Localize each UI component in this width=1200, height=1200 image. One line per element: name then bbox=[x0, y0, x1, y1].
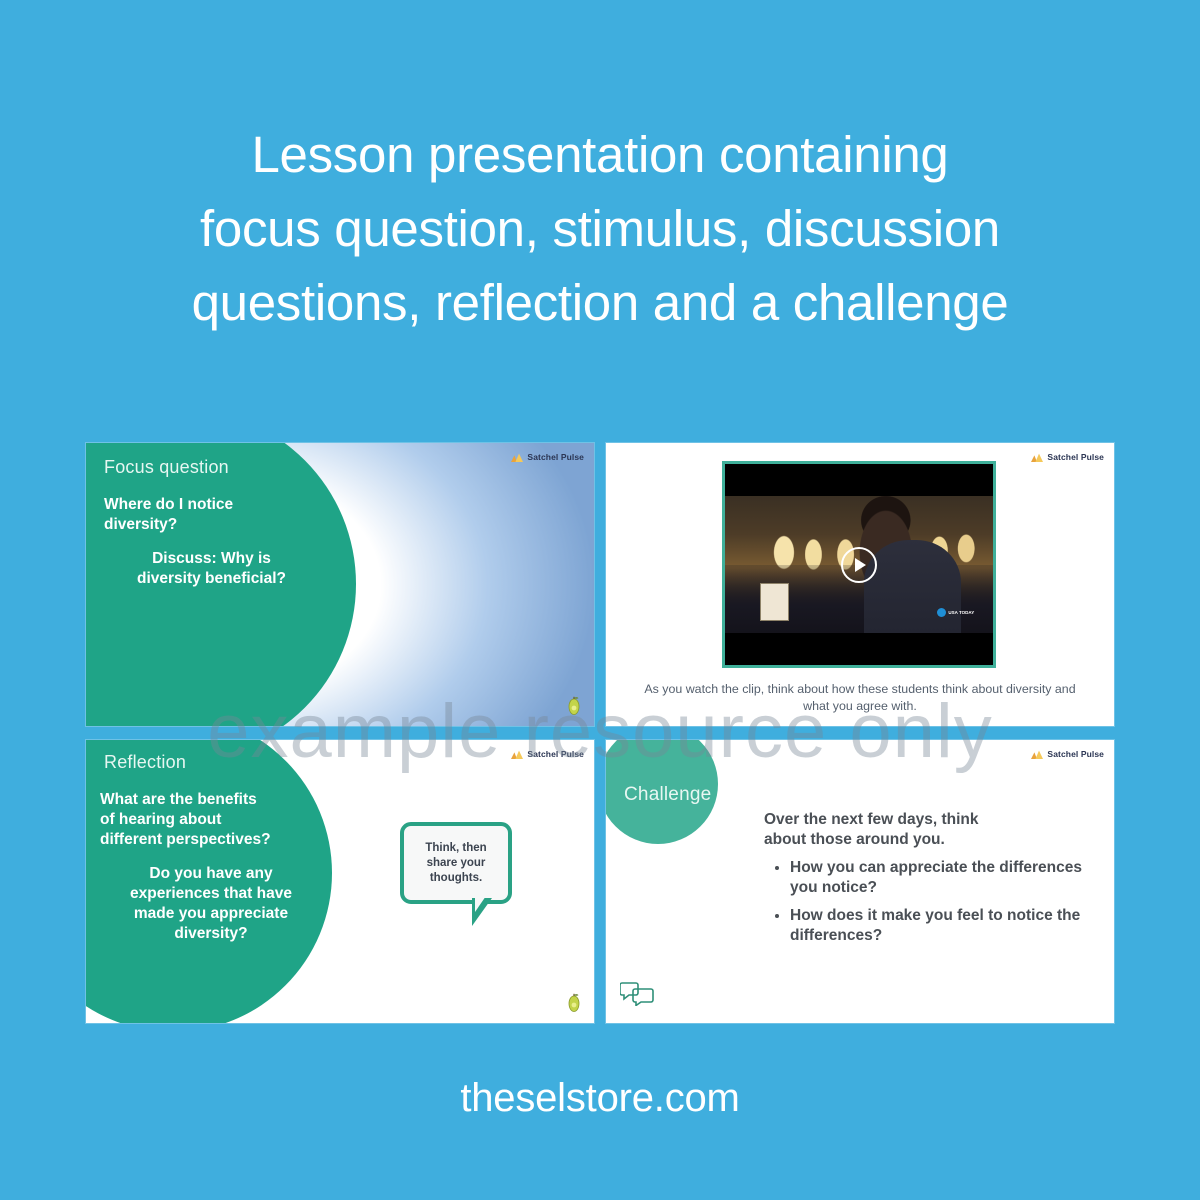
pear-mascot-icon bbox=[566, 993, 582, 1013]
usa-today-text: USA TODAY bbox=[948, 610, 974, 615]
video-caption: As you watch the clip, think about how t… bbox=[638, 681, 1082, 715]
satchel-pulse-logo-text: Satchel Pulse bbox=[527, 452, 584, 462]
page-title: Lesson presentation containing focus que… bbox=[60, 118, 1140, 340]
slide-body-secondary: Discuss: Why is diversity beneficial? bbox=[104, 549, 319, 589]
satchel-pulse-logo-text: Satchel Pulse bbox=[1047, 452, 1104, 462]
slide-reflection[interactable]: Reflection What are the benefits of hear… bbox=[86, 740, 594, 1023]
slide-label-focus-question: Focus question bbox=[104, 457, 229, 478]
slide-challenge[interactable]: Challenge Over the next few days, think … bbox=[606, 740, 1114, 1023]
satchel-pulse-logo-text: Satchel Pulse bbox=[527, 749, 584, 759]
challenge-content: Over the next few days, think about thos… bbox=[764, 810, 1094, 954]
satchel-pulse-logo-text: Satchel Pulse bbox=[1047, 749, 1104, 759]
satchel-pulse-logo: Satchel Pulse bbox=[1031, 452, 1104, 462]
speech-bubble-text: Think, then share your thoughts. bbox=[425, 841, 486, 886]
video-player[interactable]: USA TODAY bbox=[722, 461, 996, 668]
challenge-lead-text: Over the next few days, think about thos… bbox=[764, 810, 1094, 850]
slide-body-secondary: Do you have any experiences that have ma… bbox=[100, 864, 322, 944]
slide-body-primary: What are the benefits of hearing about d… bbox=[100, 790, 315, 850]
play-button[interactable] bbox=[841, 547, 877, 583]
usa-today-dot-icon bbox=[937, 608, 946, 617]
pear-mascot-icon bbox=[566, 696, 582, 716]
video-subject-silhouette bbox=[864, 540, 960, 632]
speech-bubble-tail bbox=[472, 898, 492, 926]
challenge-bullet-list: How you can appreciate the differences y… bbox=[764, 858, 1094, 946]
slide-stimulus-video[interactable]: Satchel Pulse USA TODAY As you watch the… bbox=[606, 443, 1114, 726]
satchel-pulse-logo: Satchel Pulse bbox=[1031, 749, 1104, 759]
usa-today-watermark: USA TODAY bbox=[937, 608, 974, 617]
video-background-picture bbox=[760, 583, 789, 621]
mountain-icon bbox=[511, 750, 523, 759]
chat-bubbles-icon bbox=[620, 980, 654, 1011]
slide-label-challenge: Challenge bbox=[624, 784, 711, 806]
challenge-bullet-item: How does it make you feel to notice the … bbox=[790, 906, 1094, 946]
satchel-pulse-logo: Satchel Pulse bbox=[511, 452, 584, 462]
mountain-icon bbox=[1031, 750, 1043, 759]
footer-url: theselstore.com bbox=[0, 1076, 1200, 1121]
slide-label-reflection: Reflection bbox=[104, 752, 186, 773]
speech-bubble: Think, then share your thoughts. bbox=[400, 822, 512, 904]
mountain-icon bbox=[1031, 453, 1043, 462]
challenge-bullet-item: How you can appreciate the differences y… bbox=[790, 858, 1094, 898]
slide-body-primary: Where do I notice diversity? bbox=[104, 495, 314, 535]
slide-focus-question[interactable]: Focus question Where do I notice diversi… bbox=[86, 443, 594, 726]
mountain-icon bbox=[511, 453, 523, 462]
slide-thumbnail-grid: Focus question Where do I notice diversi… bbox=[86, 443, 1114, 1023]
satchel-pulse-logo: Satchel Pulse bbox=[511, 749, 584, 759]
